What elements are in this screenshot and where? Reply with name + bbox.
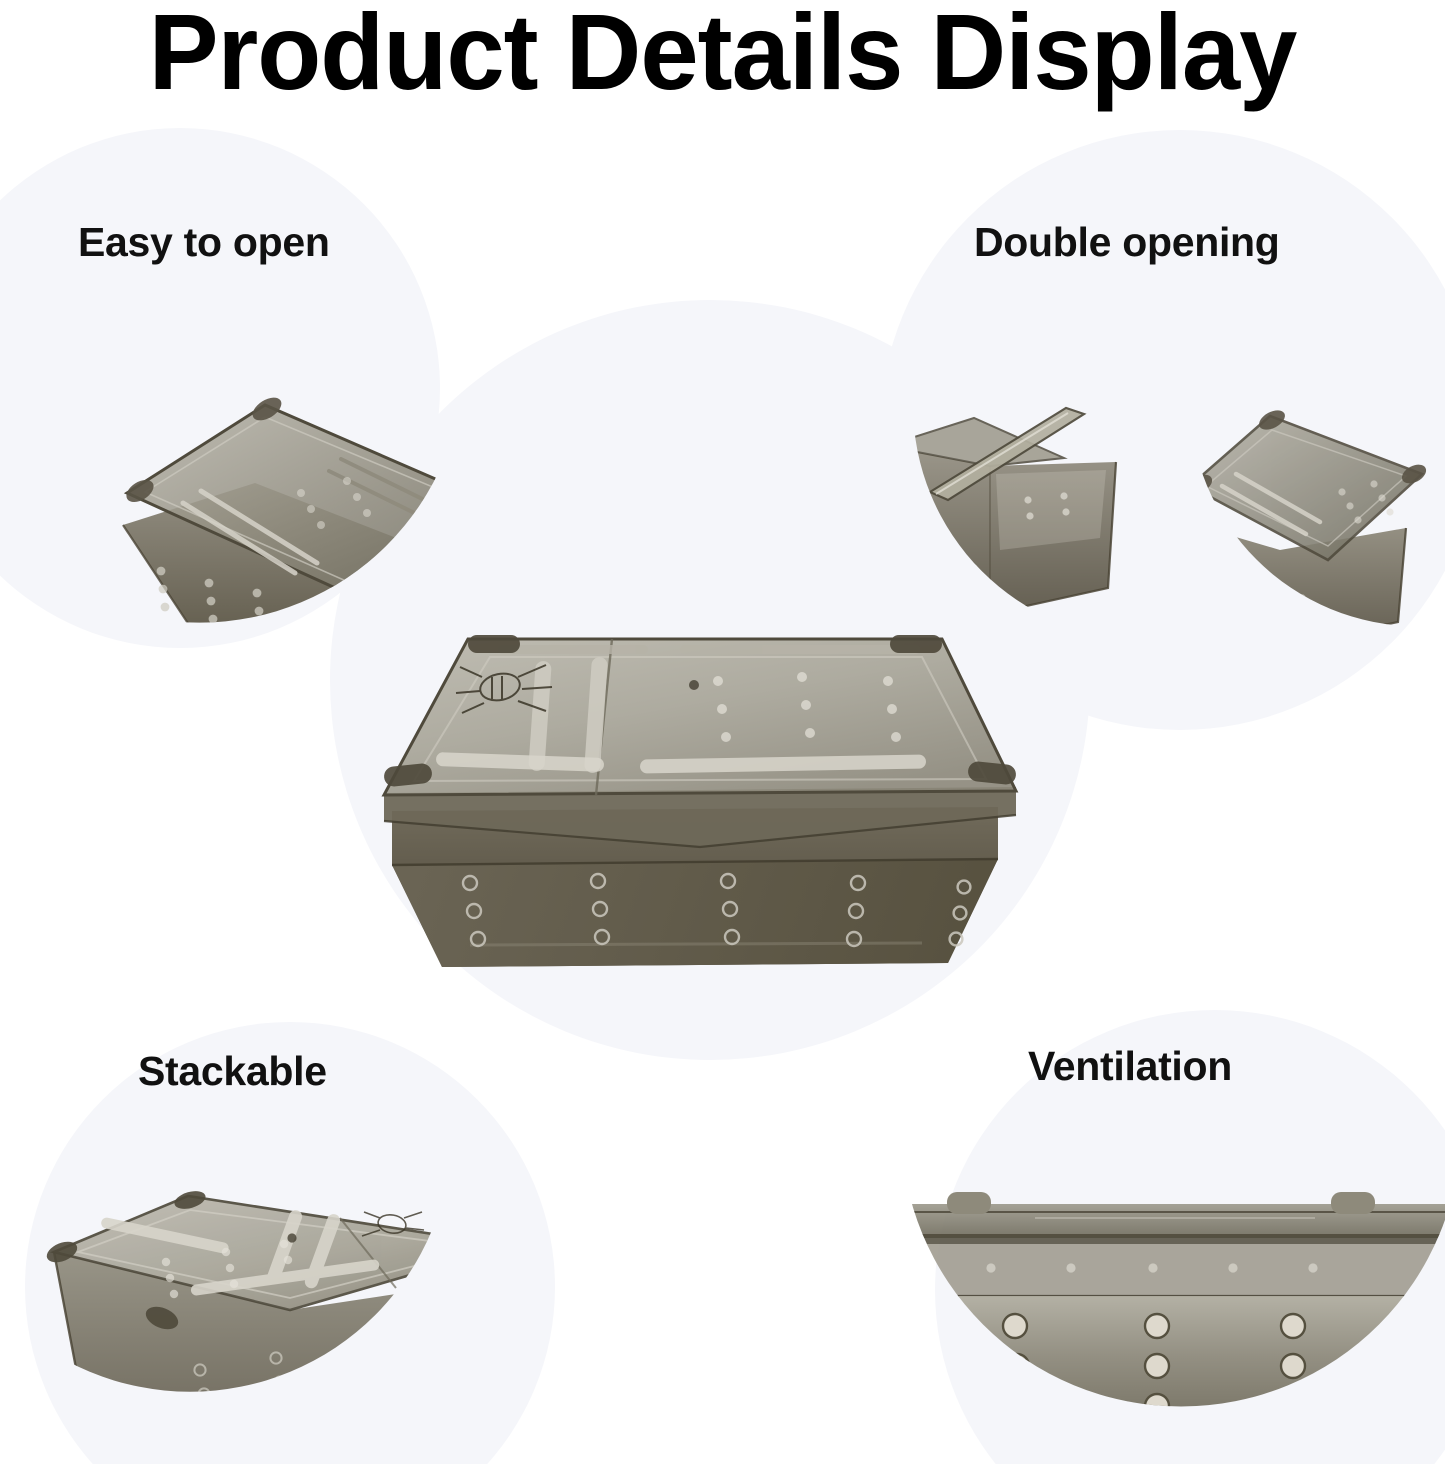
feature-label-double-opening: Double opening (974, 219, 1280, 266)
product-details-canvas: Product Details Display Easy to open Dou… (0, 0, 1445, 1464)
hero-product-photo (350, 615, 1050, 1015)
feature-label-ventilation: Ventilation (1028, 1043, 1232, 1090)
feature-label-stackable: Stackable (138, 1048, 327, 1095)
page-title: Product Details Display (22, 0, 1424, 111)
feature-label-easy-to-open: Easy to open (78, 219, 330, 266)
